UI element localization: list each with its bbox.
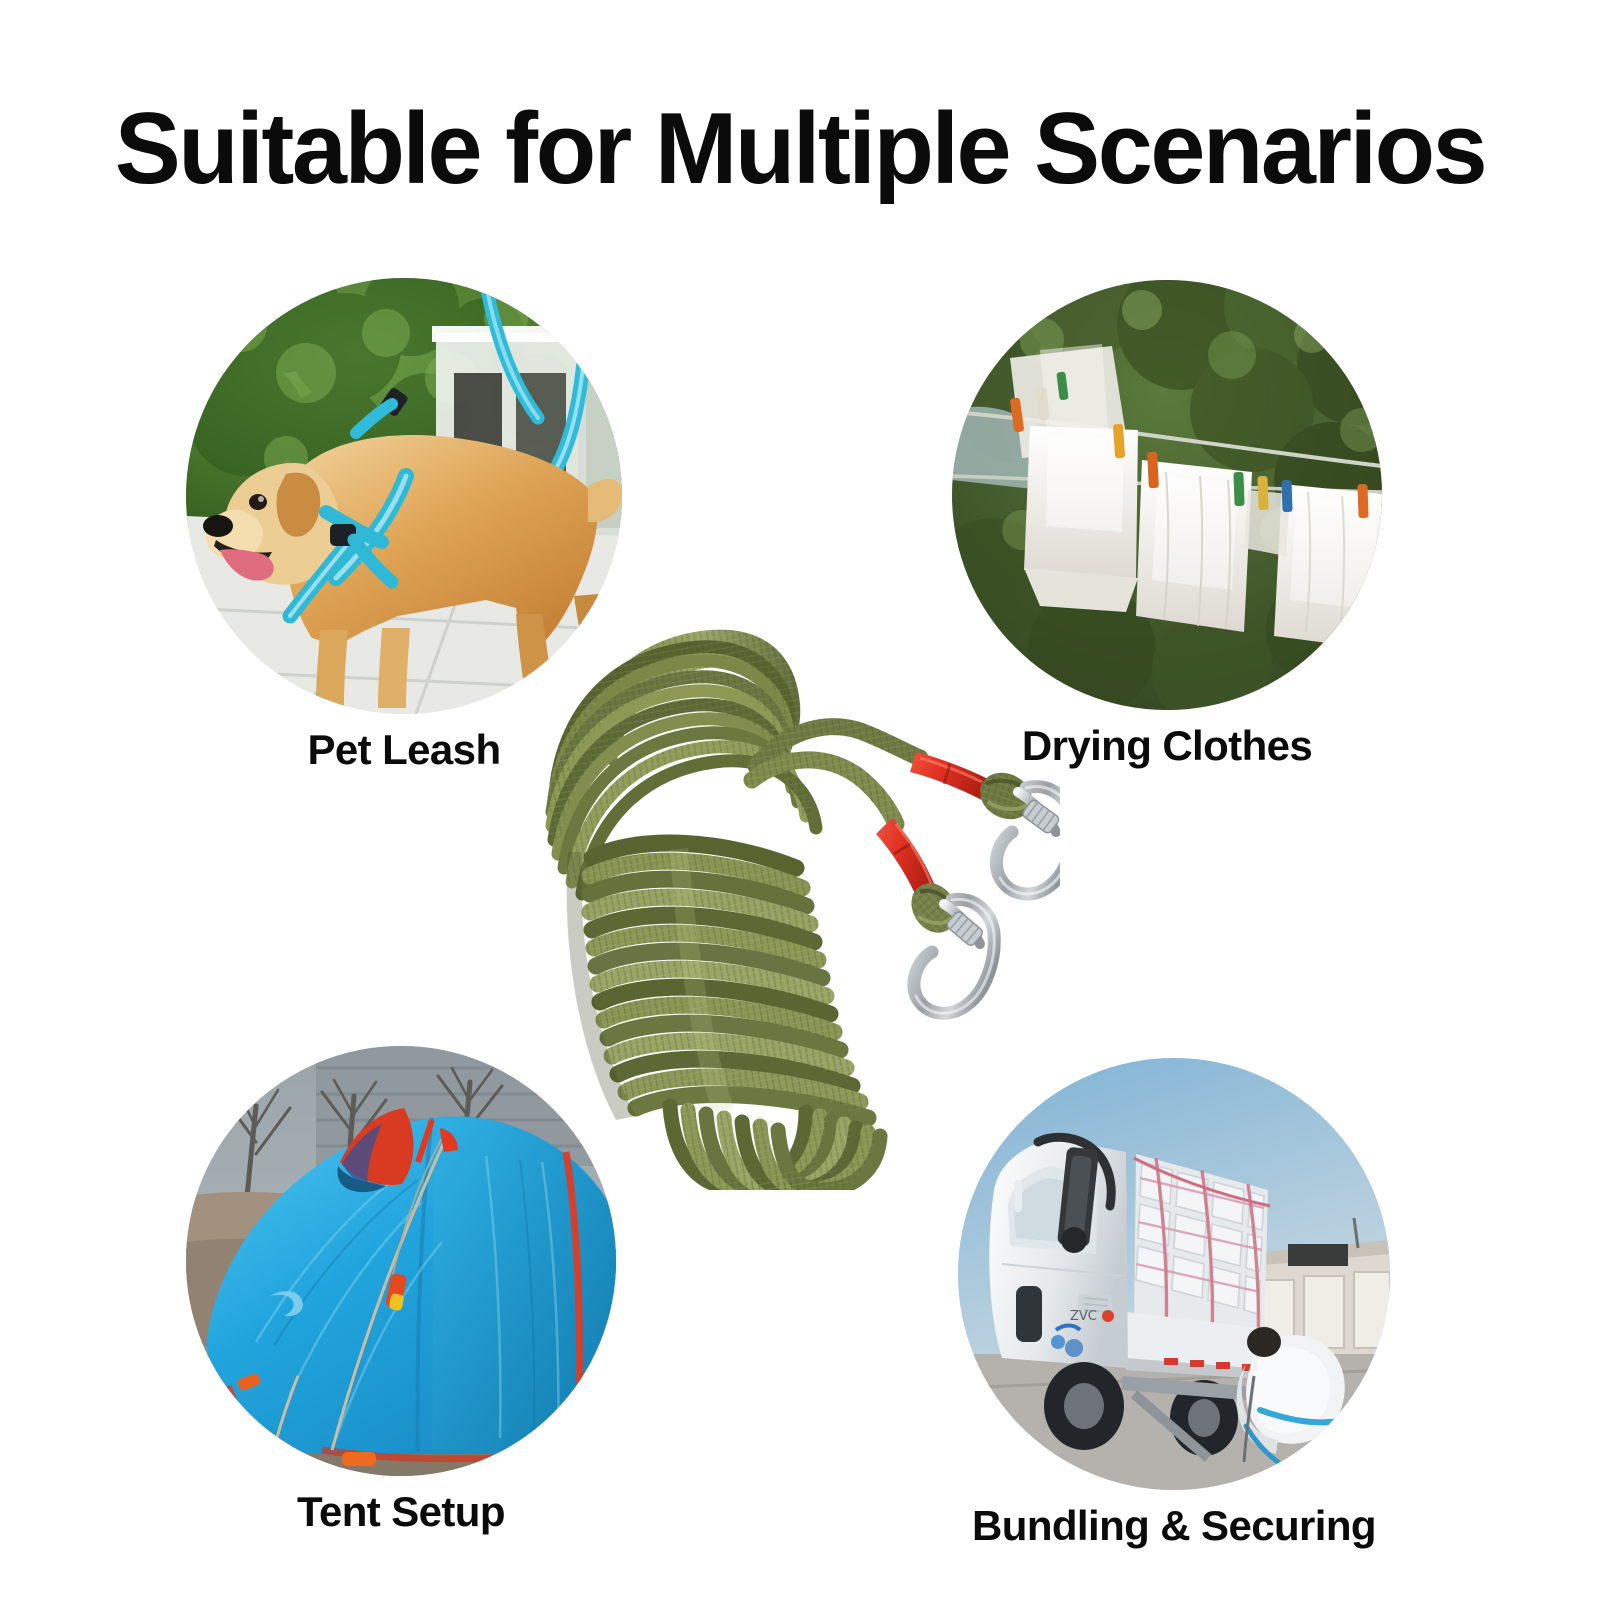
svg-text:ZVC: ZVC [1070, 1309, 1097, 1324]
scenario-label-tent-setup: Tent Setup [186, 1488, 616, 1536]
product-image-coiled-rope [520, 600, 1060, 1190]
scenario-label-bundling-securing: Bundling & Securing [958, 1502, 1390, 1550]
page-title: Suitable for Multiple Scenarios [16, 96, 1584, 202]
rope-coil-bottom [670, 1106, 880, 1190]
rope-coil-body [567, 843, 868, 1120]
